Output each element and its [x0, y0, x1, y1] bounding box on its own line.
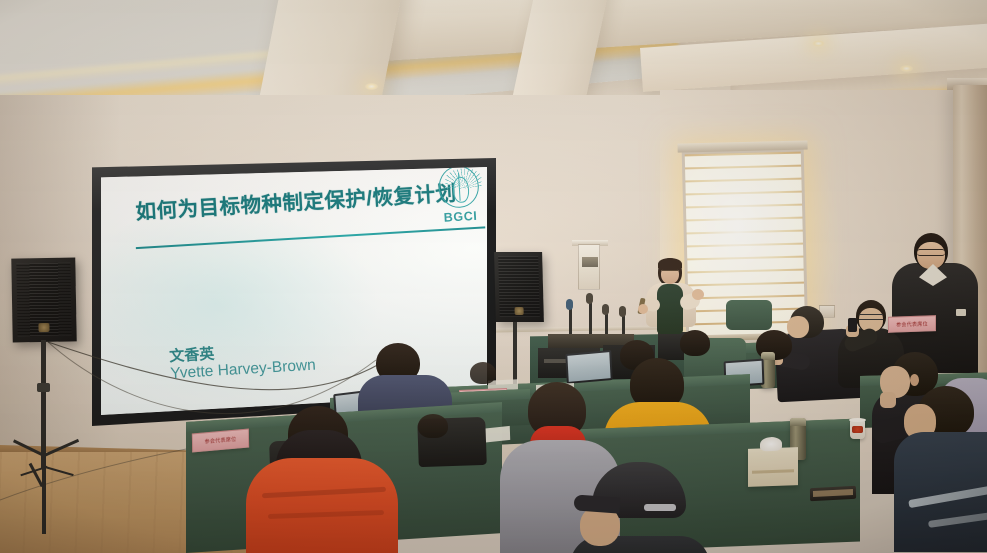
hand [880, 392, 896, 408]
speaker-badge-icon [38, 323, 49, 332]
photo-scene: 如何为目标物种制定保护/恢复计划 文香英 Yvette Harvey-Brown… [0, 0, 987, 553]
speaker-stand-pole [41, 340, 46, 468]
puffer-jacket [246, 458, 398, 553]
microphone-icon [586, 293, 593, 304]
smartphone-icon [848, 318, 857, 332]
cup-rim [849, 418, 866, 422]
hand [638, 304, 648, 314]
glasses-icon [859, 314, 883, 320]
face [787, 316, 809, 338]
glasses-icon [662, 270, 678, 274]
audience-cap-wearer [570, 462, 710, 553]
audience-head [680, 330, 710, 356]
glasses-icon [917, 249, 945, 256]
cap-brim [573, 494, 620, 513]
placard-text: 参会代表席位 [193, 430, 248, 452]
microphone-icon [566, 299, 573, 310]
microphone-icon [602, 304, 609, 315]
bgci-wordmark: BGCI [436, 208, 485, 225]
audience-head [418, 414, 448, 438]
pa-speaker-right [494, 252, 544, 322]
audience-head [470, 362, 496, 384]
ear [910, 374, 919, 386]
bgci-logo: BGCI [434, 167, 486, 229]
downlight-icon [900, 65, 913, 72]
tissue-box-band [752, 469, 794, 473]
speaker-badge-icon [515, 307, 524, 315]
placard-text: 参会代表席位 [889, 316, 935, 332]
audience-blue-workwear [900, 386, 987, 553]
bgci-rays-icon [445, 167, 482, 189]
tripod-center-post [42, 468, 46, 534]
vest [657, 284, 683, 334]
microphone-icon [619, 306, 626, 317]
downlight-icon [812, 40, 825, 47]
slide-title: 如何为目标物种制定保护/恢复计划 [135, 176, 457, 225]
chair-green [726, 300, 772, 330]
cap-strap [644, 504, 676, 511]
name-badge [956, 309, 966, 316]
pa-speaker-left [11, 257, 76, 342]
hand [692, 289, 704, 300]
paper-cup [850, 420, 865, 439]
tissue-sheet [760, 437, 782, 452]
downlight-icon [365, 83, 378, 90]
smartphone-on-table [810, 486, 856, 501]
microphone-stand [589, 300, 592, 334]
audience-red-jacket [246, 406, 398, 553]
microphone-stand [569, 306, 572, 334]
blind-headrail [677, 140, 807, 152]
hair [658, 258, 682, 270]
bgci-emblem-icon [438, 167, 480, 209]
tissue-box [748, 447, 798, 487]
name-placard: 参会代表席位 [888, 315, 936, 333]
speaker-stand-knob [37, 383, 50, 392]
wall-control-unit [578, 244, 600, 290]
